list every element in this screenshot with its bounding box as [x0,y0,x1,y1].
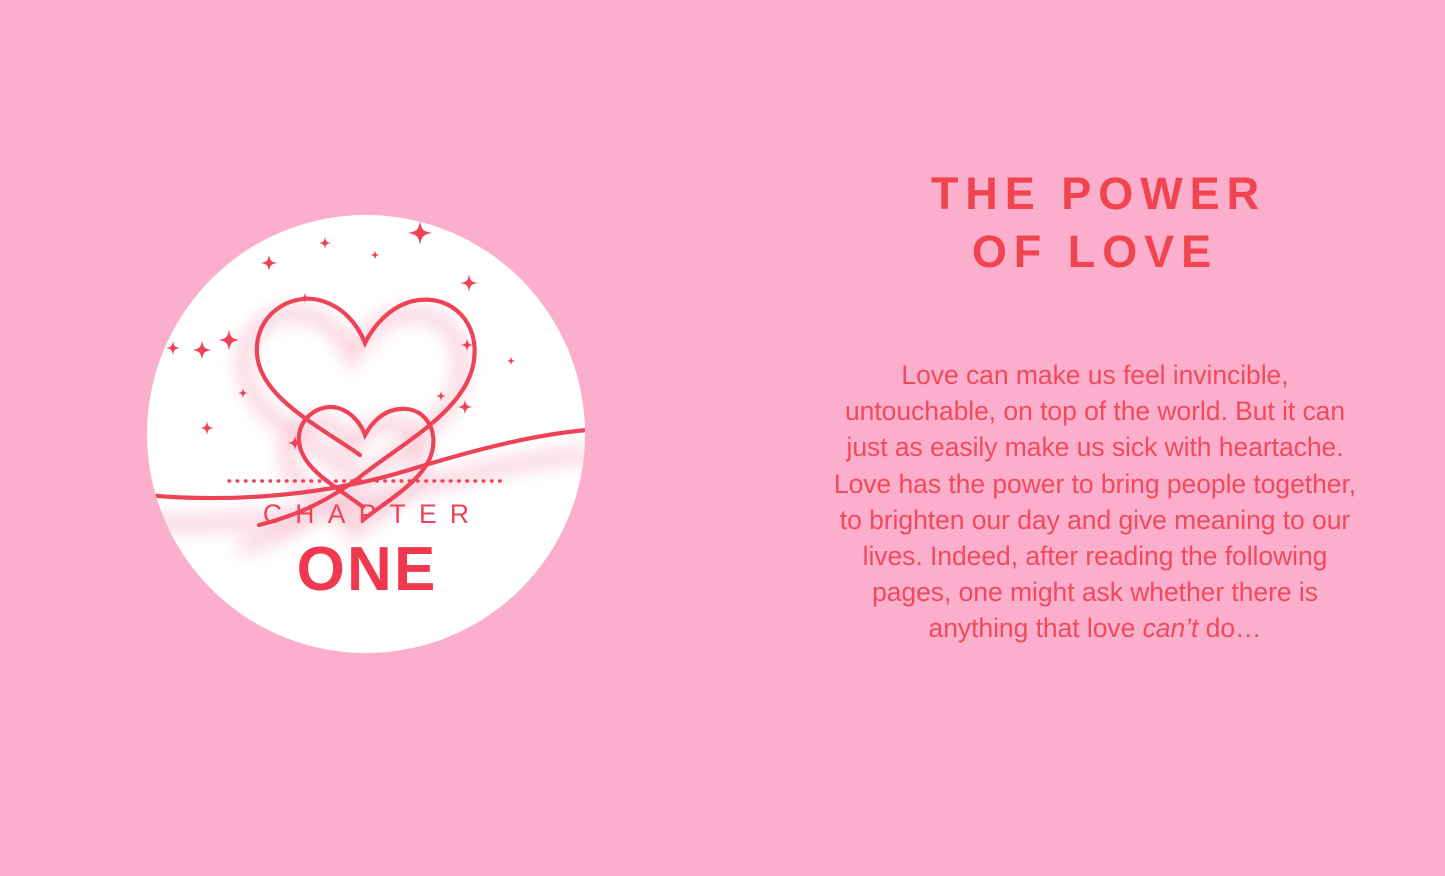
chapter-intro-paragraph: Love can make us feel invincible, untouc… [826,357,1364,646]
paragraph-text-after-italic: do… [1198,613,1261,643]
page-title: THE POWER OF LOVE [826,165,1364,280]
emblem-panel: CHAPTER ONE [0,0,730,876]
chapter-number: ONE [147,539,585,601]
paragraph-italic-word: can’t [1143,613,1199,643]
chapter-emblem: CHAPTER ONE [147,215,585,653]
text-panel: THE POWER OF LOVE Love can make us feel … [826,0,1364,876]
paragraph-text-before-italic: Love can make us feel invincible, untouc… [834,360,1356,643]
chapter-label: CHAPTER [147,501,585,528]
chapter-wordmark: CHAPTER ONE [147,501,585,601]
chapter-opener-spread: CHAPTER ONE THE POWER OF LOVE Love can m… [0,0,1445,876]
